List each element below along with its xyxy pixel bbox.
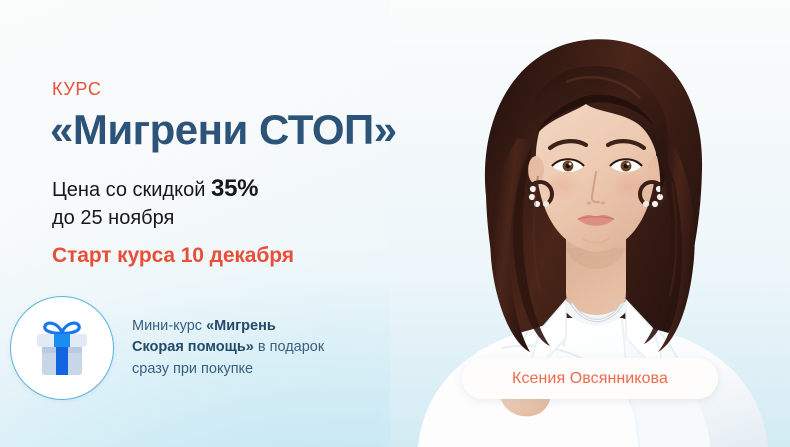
price-block: Цена со скидкой 35% до 25 ноября xyxy=(52,172,258,233)
discount-percent: 35% xyxy=(211,175,258,202)
eye-right xyxy=(610,159,642,172)
gift-icon-circle xyxy=(10,296,114,400)
promo-banner: КУРС «Мигрени СТОП» Цена со скидкой 35% … xyxy=(0,0,790,447)
price-line-1: Цена со скидкой 35% xyxy=(52,172,258,205)
course-eyebrow-label: КУРС xyxy=(52,80,101,98)
page-title: «Мигрени СТОП» xyxy=(50,107,397,152)
bonus-line-1-plain: Мини-курс xyxy=(132,318,206,334)
bonus-line-2-bold: Скорая помощь» xyxy=(132,339,254,355)
price-deadline: до 25 ноября xyxy=(52,205,258,233)
bonus-line-3: сразу при покупке xyxy=(132,359,324,380)
price-prefix-text: Цена со скидкой xyxy=(52,179,211,201)
bonus-description: Мини-курс «Мигрень Скорая помощь» в пода… xyxy=(132,316,324,379)
speaker-name-badge: Ксения Овсянникова xyxy=(462,358,718,399)
bonus-line-1: Мини-курс «Мигрень xyxy=(132,316,324,337)
eye-left xyxy=(552,159,584,172)
speaker-name: Ксения Овсянникова xyxy=(512,370,668,388)
bonus-line-2: Скорая помощь» в подарок xyxy=(132,337,324,358)
earring-right xyxy=(640,182,664,207)
bonus-line-1-bold: «Мигрень xyxy=(206,318,276,334)
gift-icon xyxy=(31,319,93,377)
bonus-gift-block: Мини-курс «Мигрень Скорая помощь» в пода… xyxy=(10,296,324,400)
bonus-line-2-plain: в подарок xyxy=(254,339,324,355)
course-start-date: Старт курса 10 декабря xyxy=(52,243,294,268)
earring-left xyxy=(528,182,552,207)
